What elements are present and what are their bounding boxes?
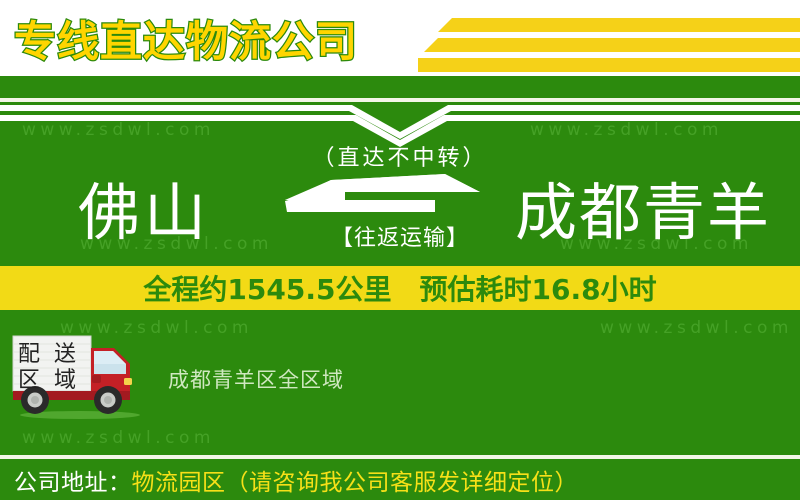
banner-header: 专线直达物流公司	[0, 0, 800, 76]
stripe-2	[424, 38, 800, 52]
decorative-stripes	[418, 0, 800, 76]
svg-text:送: 送	[54, 342, 76, 367]
duration-text: 预估耗时16.8小时	[419, 268, 656, 308]
company-title: 专线直达物流公司	[14, 8, 358, 69]
banner-footer: 公司地址： 物流园区（请咨询我公司客服发详细定位）	[0, 459, 800, 500]
banner-body: www.zsdwl.com www.zsdwl.com www.zsdwl.co…	[0, 102, 800, 455]
coverage-area-text: 成都青羊区全区域	[168, 364, 344, 394]
stripe-3	[418, 58, 800, 72]
svg-text:域: 域	[54, 368, 76, 393]
route-stats-bar: 全程约1545.5公里 预估耗时16.8小时	[0, 266, 800, 310]
svg-text:配: 配	[18, 342, 40, 367]
bidirectional-arrow-icon	[285, 174, 480, 226]
company-address-line: 公司地址： 物流园区（请咨询我公司客服发详细定位）	[14, 459, 578, 500]
svg-text:区: 区	[18, 368, 40, 393]
destination-city: 成都青羊	[515, 162, 771, 252]
logistics-route-banner: 专线直达物流公司 www.zsdwl.com www.zsdwl.com www…	[0, 0, 800, 500]
distance-text: 全程约1545.5公里	[143, 268, 391, 308]
watermark-text: www.zsdwl.com	[600, 318, 793, 338]
address-label: 公司地址：	[14, 463, 132, 497]
stripe-1	[438, 18, 800, 32]
watermark-text: www.zsdwl.com	[22, 428, 215, 448]
address-value: 物流园区（请咨询我公司客服发详细定位）	[132, 463, 579, 497]
delivery-truck-icon: 配 送 区 域	[10, 330, 160, 420]
green-accent-strip	[0, 76, 800, 98]
